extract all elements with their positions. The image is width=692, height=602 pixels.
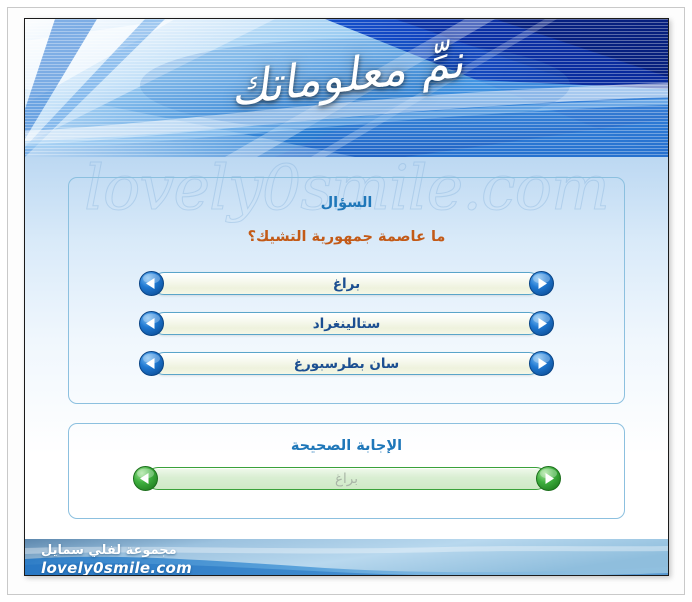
option-label: سان بطرسبورغ [153, 356, 540, 372]
header-banner: نمِّ معلوماتك [25, 19, 668, 157]
question-text: ما عاصمة جمهورية التشيك؟ [69, 229, 624, 245]
banner-artwork [25, 19, 668, 157]
play-triangle-right-icon[interactable] [528, 350, 555, 377]
play-triangle-left-icon[interactable] [132, 465, 159, 492]
quiz-slide: نمِّ معلوماتك lovely0smile.com السؤال ما… [24, 18, 669, 576]
option-row[interactable]: براغ [138, 270, 555, 297]
question-card-title: السؤال [69, 195, 624, 211]
option-row[interactable]: ستالينغراد [138, 310, 555, 337]
option-label: ستالينغراد [153, 316, 540, 332]
question-card: السؤال ما عاصمة جمهورية التشيك؟ براغ [68, 177, 625, 404]
page-frame: نمِّ معلوماتك lovely0smile.com السؤال ما… [0, 0, 692, 602]
footer-artwork [25, 539, 668, 576]
play-triangle-left-icon[interactable] [138, 270, 165, 297]
play-triangle-right-icon[interactable] [535, 465, 562, 492]
play-triangle-right-icon[interactable] [528, 270, 555, 297]
answer-card: الإجابة الصحيحة براغ [68, 423, 625, 519]
answer-label: براغ [147, 471, 547, 487]
footer-banner: مجموعة لفلي سمايل lovely0smile.com [25, 539, 668, 576]
option-pill[interactable]: سان بطرسبورغ [152, 352, 541, 375]
answer-pill[interactable]: براغ [146, 467, 548, 490]
options-list: براغ [69, 270, 624, 377]
answer-row: براغ [69, 465, 624, 492]
play-triangle-right-icon[interactable] [528, 310, 555, 337]
play-triangle-left-icon[interactable] [138, 350, 165, 377]
answer-card-title: الإجابة الصحيحة [69, 438, 624, 454]
option-label: براغ [153, 276, 540, 292]
option-row[interactable]: سان بطرسبورغ [138, 350, 555, 377]
play-triangle-left-icon[interactable] [138, 310, 165, 337]
option-pill[interactable]: ستالينغراد [152, 312, 541, 335]
option-pill[interactable]: براغ [152, 272, 541, 295]
